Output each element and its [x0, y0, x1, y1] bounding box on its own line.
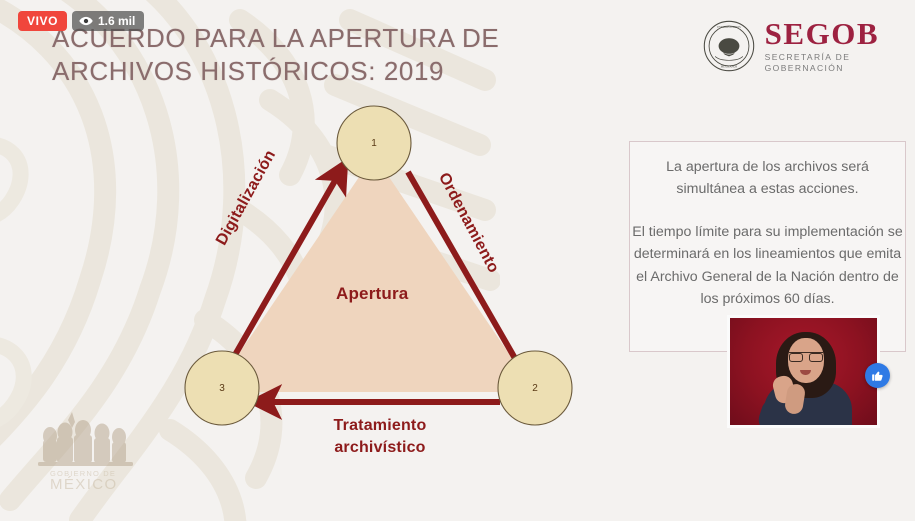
pip-glasses — [789, 352, 823, 360]
mexican-national-seal-icon: ESTADOS UNIDOS MEXICANOS — [703, 20, 755, 72]
info-panel-paragraph-2: El tiempo límite para su implementación … — [630, 201, 905, 311]
live-badge: VIVO — [18, 11, 67, 31]
segob-name: SEGOB — [765, 18, 879, 49]
node-label-2: 2 — [500, 383, 570, 394]
viewer-count-label: 1.6 mil — [98, 15, 135, 27]
edge-label-tratamiento-archivistico: Tratamiento archivístico — [315, 415, 445, 458]
apertura-cycle-diagram: 1 2 3 Digitalización Ordenamiento Apertu… — [150, 100, 620, 500]
svg-text:MÉXICO: MÉXICO — [50, 476, 118, 492]
slide-title: ACUERDO PARA LA APERTURA DE ARCHIVOS HIS… — [52, 22, 522, 88]
node-label-1: 1 — [339, 138, 409, 149]
segob-logo: ESTADOS UNIDOS MEXICANOS SEGOB SECRETARÍ… — [703, 18, 879, 74]
slide-title-line-2: ARCHIVOS HISTÓRICOS: 2019 — [52, 55, 522, 88]
node-label-3: 3 — [187, 383, 257, 394]
segob-wordmark: SEGOB SECRETARÍA DE GOBERNACIÓN — [765, 18, 879, 74]
segob-subtitle-line-1: SECRETARÍA DE — [765, 52, 851, 62]
eye-icon — [79, 16, 93, 26]
svg-text:MEXICANOS: MEXICANOS — [720, 66, 737, 69]
edge-label-tratamiento-line-1: Tratamiento — [334, 417, 427, 434]
gobierno-de-mexico-logo-icon: GOBIERNO DE MÉXICO — [28, 406, 150, 492]
center-label-apertura: Apertura — [336, 284, 408, 304]
viewer-count-badge: 1.6 mil — [72, 11, 144, 31]
sign-language-interpreter-video[interactable] — [727, 315, 880, 428]
info-panel-paragraph-1: La apertura de los archivos será simultá… — [630, 142, 905, 201]
thumbs-up-icon[interactable] — [865, 363, 890, 388]
edge-label-tratamiento-line-2: archivístico — [334, 439, 425, 456]
svg-text:ESTADOS UNIDOS: ESTADOS UNIDOS — [717, 26, 741, 29]
stream-viewport: VIVO 1.6 mil ACUERDO PARA LA APERTURA DE… — [0, 0, 915, 521]
segob-subtitle: SECRETARÍA DE GOBERNACIÓN — [765, 52, 879, 74]
segob-subtitle-line-2: GOBERNACIÓN — [765, 63, 844, 73]
